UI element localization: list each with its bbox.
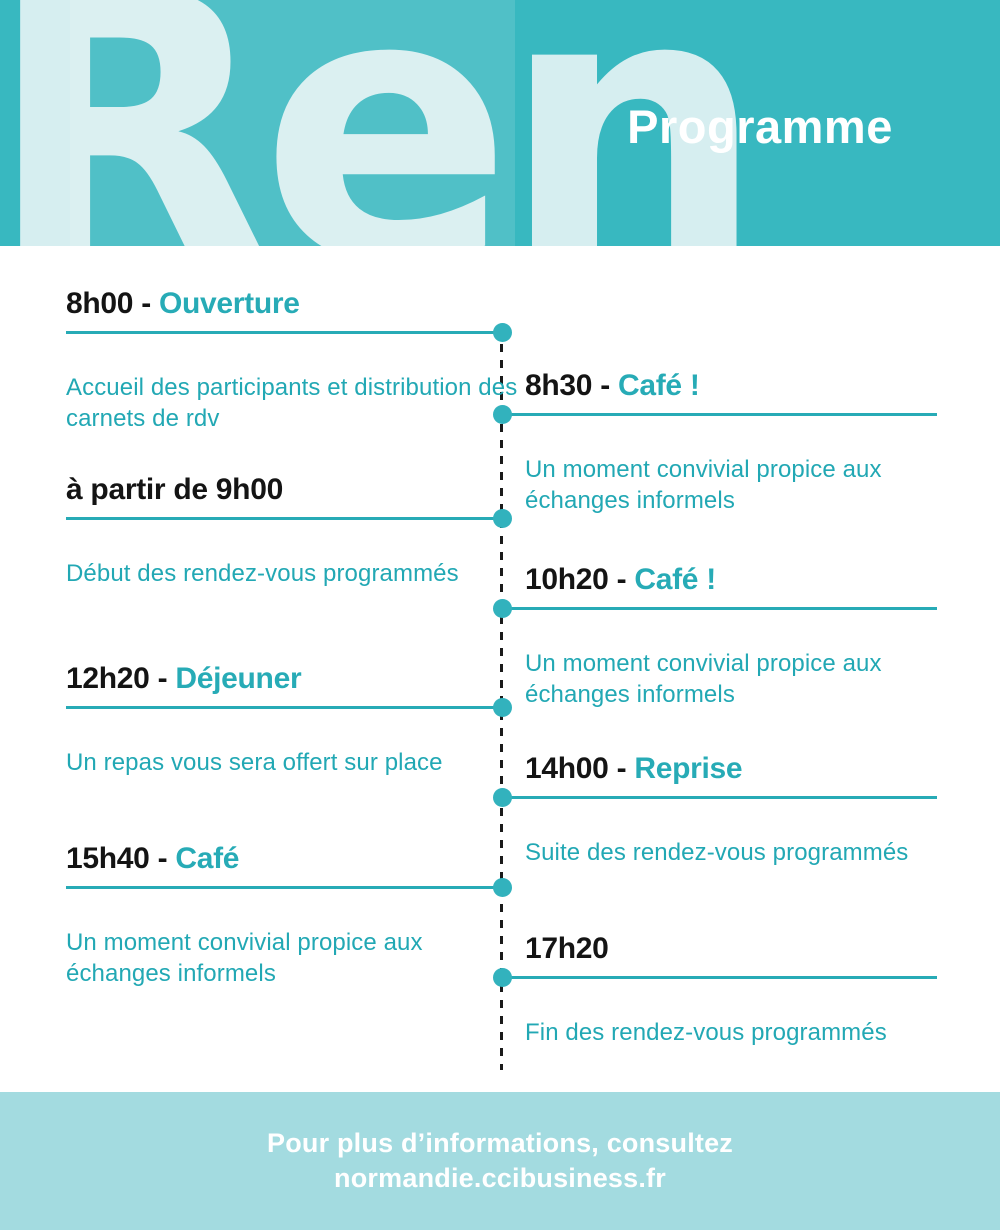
timeline-item-rule <box>502 413 937 416</box>
timeline-item: 10h20 - Café ! Un moment convivial propi… <box>501 562 941 710</box>
timeline-item-dot <box>493 509 512 528</box>
timeline-item-label: Reprise <box>634 752 742 785</box>
programme-poster: Ren Programme 8h00 - Ouverture Accueil d… <box>0 0 1000 1230</box>
header-banner: Ren Programme <box>0 0 1000 246</box>
timeline-item-rule <box>502 607 937 610</box>
timeline-item-dot <box>493 323 512 342</box>
timeline-item-dot <box>493 788 512 807</box>
timeline-item-title: 17h20 <box>501 931 941 967</box>
timeline-item: 8h30 - Café ! Un moment convivial propic… <box>501 368 941 516</box>
timeline-item-rule <box>502 796 937 799</box>
timeline-item-separator: - <box>592 369 618 402</box>
timeline-item-time: 8h00 <box>66 287 133 320</box>
timeline-item: à partir de 9h00 Début des rendez-vous p… <box>66 472 518 589</box>
timeline-item-time: 17h20 <box>525 932 609 965</box>
timeline: 8h00 - Ouverture Accueil des participant… <box>0 246 1000 1092</box>
timeline-item-time: 10h20 <box>525 563 609 596</box>
timeline-item: 17h20 Fin des rendez-vous programmés <box>501 931 941 1048</box>
timeline-item-separator: - <box>609 563 635 596</box>
timeline-item-separator: - <box>150 662 176 695</box>
timeline-item-description: Un moment convivial propice aux échanges… <box>66 916 518 989</box>
timeline-item-rule <box>66 886 503 889</box>
timeline-item-rule <box>66 517 503 520</box>
timeline-item-title: 8h00 - Ouverture <box>66 286 518 322</box>
timeline-item-title: 12h20 - Déjeuner <box>66 661 518 697</box>
timeline-item-label: Café ! <box>618 369 700 402</box>
footer-website-url[interactable]: normandie.ccibusiness.fr <box>334 1161 666 1196</box>
timeline-item-description: Fin des rendez-vous programmés <box>501 1006 941 1048</box>
timeline-item-dot <box>493 878 512 897</box>
timeline-item: 15h40 - Café Un moment convivial propice… <box>66 841 518 989</box>
timeline-item-description: Suite des rendez-vous programmés <box>501 826 941 868</box>
timeline-item-label: Ouverture <box>159 287 300 320</box>
timeline-item-separator: - <box>133 287 159 320</box>
timeline-item-label: Café ! <box>634 563 716 596</box>
timeline-item-separator: - <box>609 752 635 785</box>
timeline-item-title: 10h20 - Café ! <box>501 562 941 598</box>
timeline-item-rule <box>66 706 503 709</box>
timeline-item-rule <box>66 331 503 334</box>
timeline-item-label: Café <box>175 842 239 875</box>
timeline-item-label: Déjeuner <box>175 662 301 695</box>
timeline-item-dot <box>493 599 512 618</box>
timeline-item-title: à partir de 9h00 <box>66 472 518 508</box>
timeline-item-description: Accueil des participants et distribution… <box>66 361 518 434</box>
timeline-item-dot <box>493 698 512 717</box>
footer-banner: Pour plus d’informations, consultez norm… <box>0 1092 1000 1230</box>
timeline-item-title: 14h00 - Reprise <box>501 751 941 787</box>
timeline-item: 14h00 - Reprise Suite des rendez-vous pr… <box>501 751 941 868</box>
timeline-item-title: 8h30 - Café ! <box>501 368 941 404</box>
timeline-item-rule <box>502 976 937 979</box>
timeline-item-description: Un repas vous sera offert sur place <box>66 736 518 778</box>
timeline-item-time: 15h40 <box>66 842 150 875</box>
header-tint-overlay <box>70 0 515 246</box>
timeline-item-time: 8h30 <box>525 369 592 402</box>
timeline-item-separator: - <box>150 842 176 875</box>
timeline-item: 12h20 - Déjeuner Un repas vous sera offe… <box>66 661 518 778</box>
timeline-item-time: 12h20 <box>66 662 150 695</box>
timeline-item-time: 14h00 <box>525 752 609 785</box>
timeline-item-dot <box>493 968 512 987</box>
timeline-item: 8h00 - Ouverture Accueil des participant… <box>66 286 518 434</box>
timeline-item-description: Un moment convivial propice aux échanges… <box>501 637 941 710</box>
timeline-item-description: Un moment convivial propice aux échanges… <box>501 443 941 516</box>
page-title: Programme <box>560 99 960 155</box>
timeline-item-title: 15h40 - Café <box>66 841 518 877</box>
timeline-item-time: à partir de 9h00 <box>66 473 283 506</box>
timeline-item-dot <box>493 405 512 424</box>
footer-line-1: Pour plus d’informations, consultez <box>267 1126 733 1161</box>
timeline-item-description: Début des rendez-vous programmés <box>66 547 518 589</box>
